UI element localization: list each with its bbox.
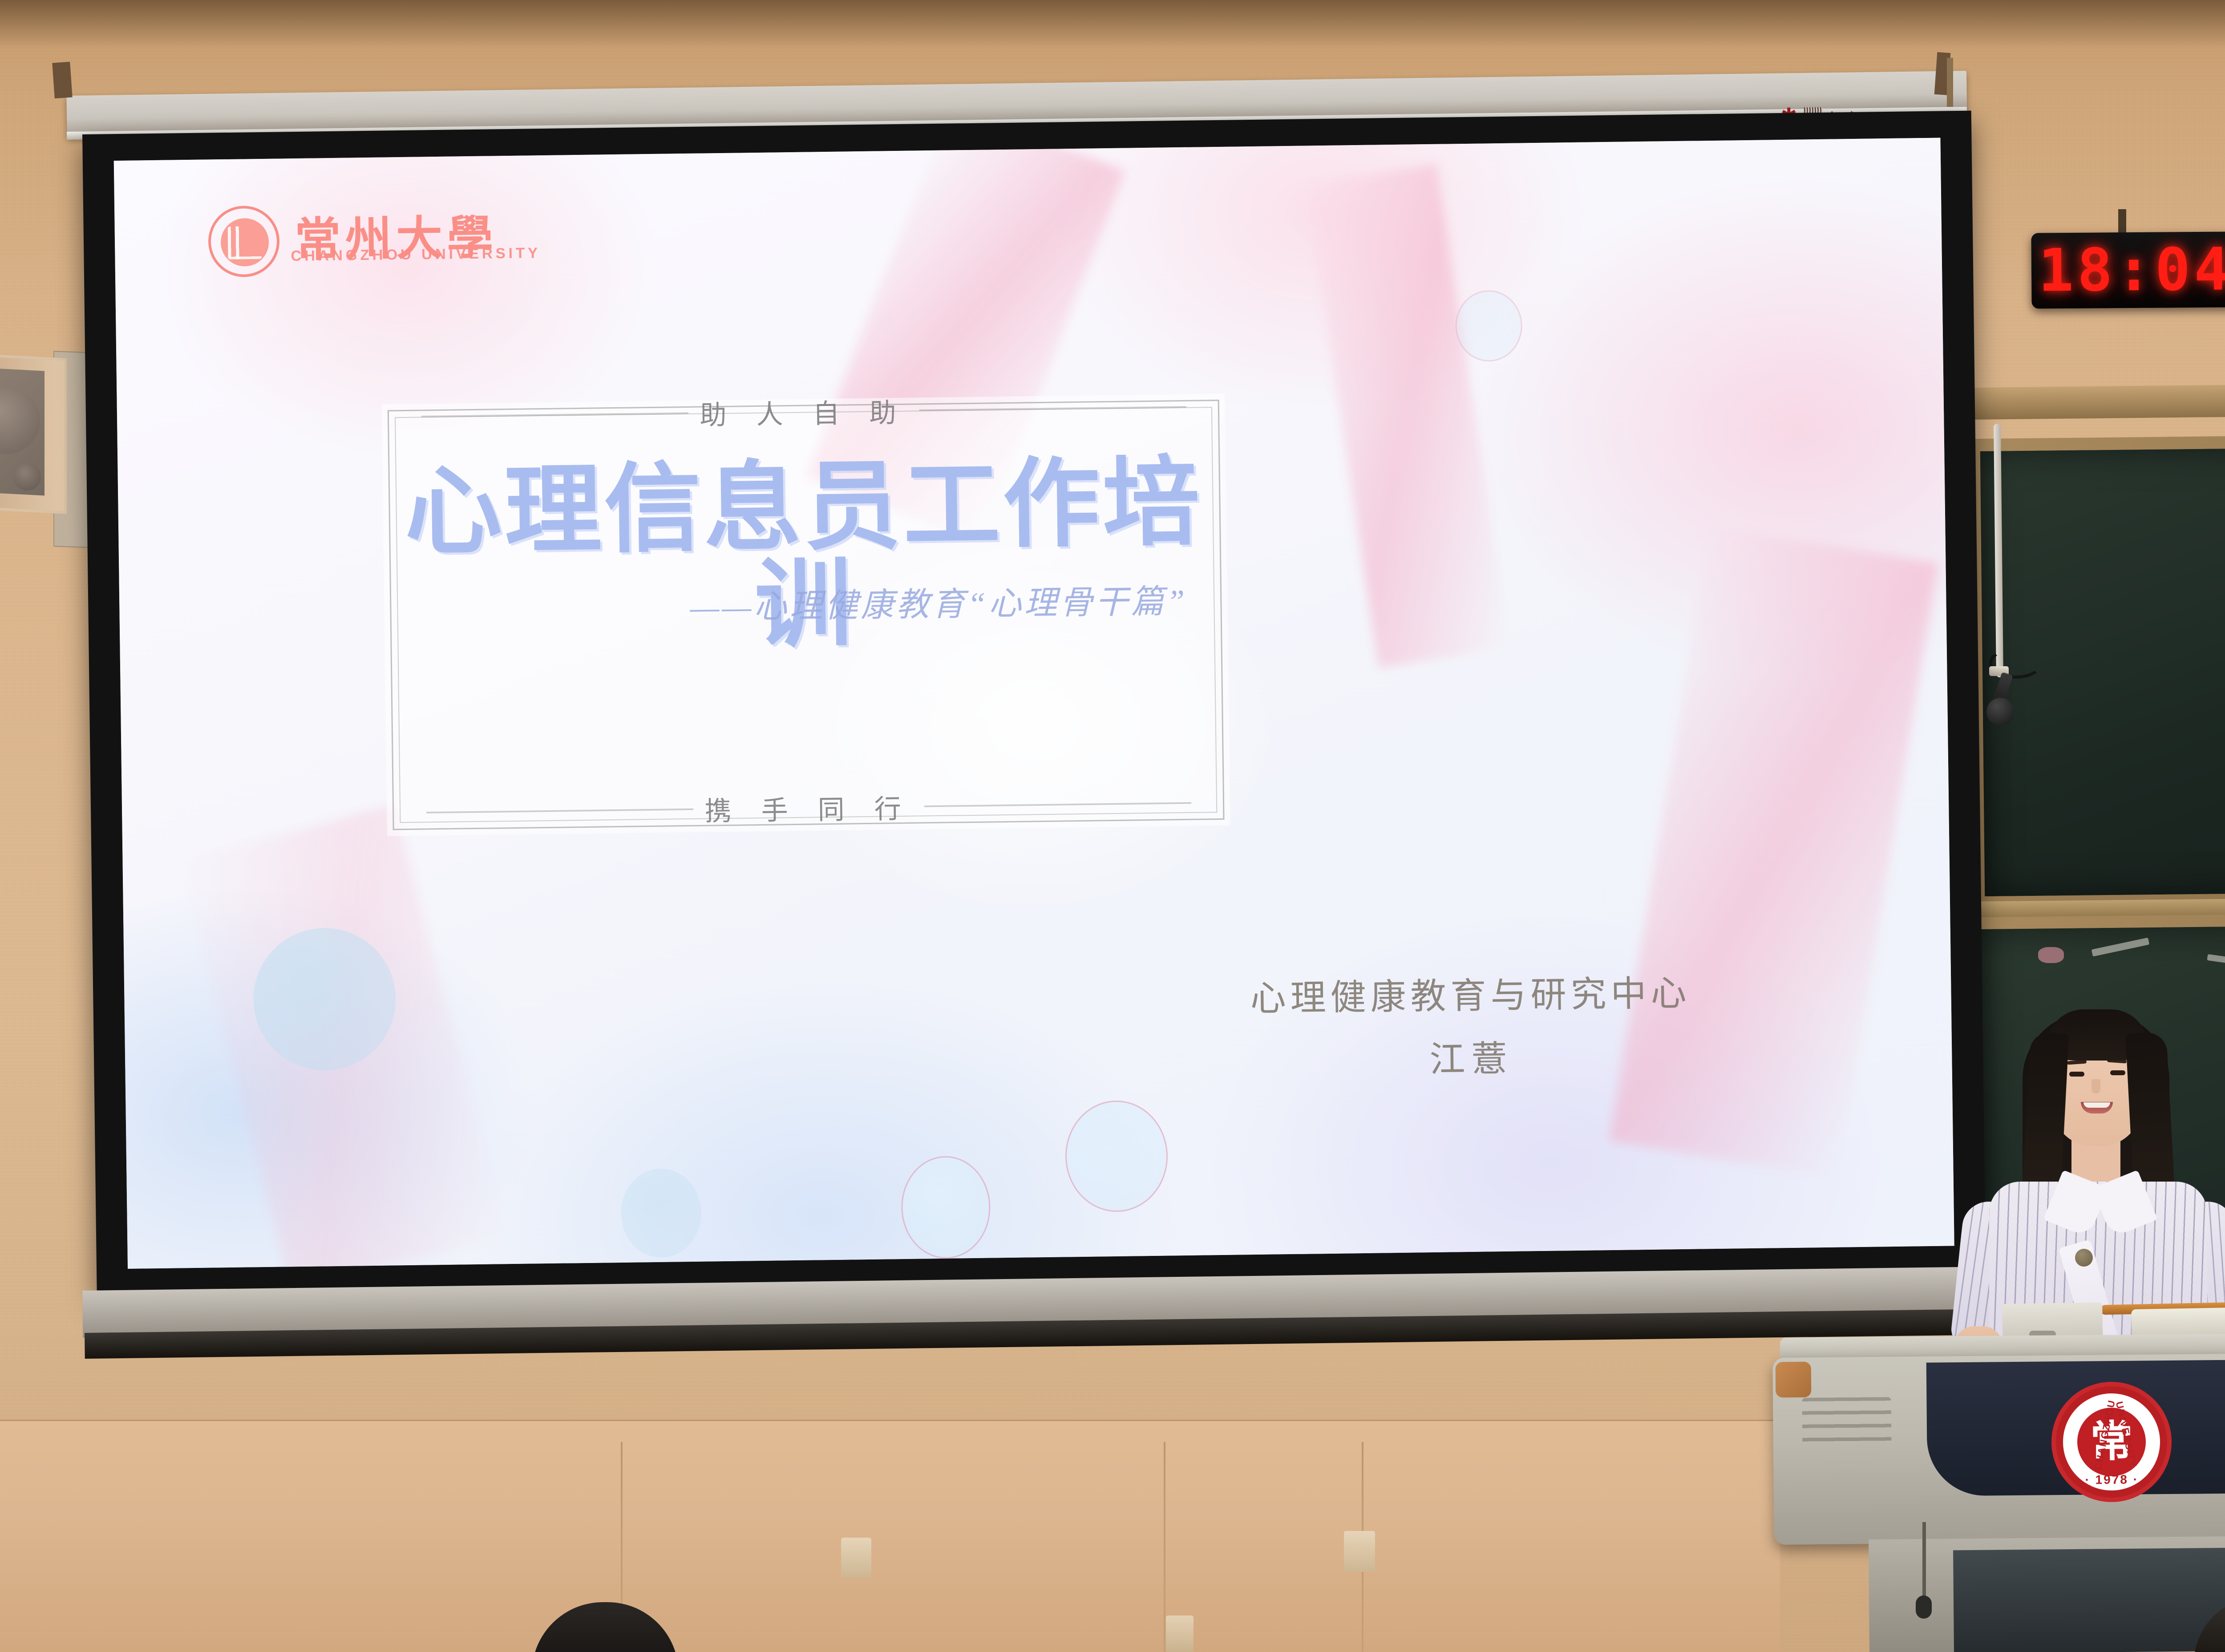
clock-time: 18:04 xyxy=(2038,235,2225,305)
wall-switch[interactable] xyxy=(1344,1531,1375,1572)
slide-university-logo: 常州大學 xyxy=(208,202,498,277)
screen-pull-rod[interactable] xyxy=(1947,58,1953,107)
podium-university-emblem: 常 CHANGZHOU UNIVERSITY · 1978 · xyxy=(2051,1381,2172,1502)
university-seal-icon xyxy=(208,205,280,277)
emblem-year: · 1978 · xyxy=(2056,1472,2168,1487)
podium-cable xyxy=(1922,1522,1926,1602)
presenter-eye-right xyxy=(2110,1070,2125,1075)
lower-wall-panel xyxy=(0,1420,1780,1652)
screen-mount-left xyxy=(52,62,72,99)
presenter-shirt-button xyxy=(2075,1249,2093,1267)
clock-bracket xyxy=(2118,209,2126,235)
speaker-tweeter-icon xyxy=(13,463,41,490)
microphone-icon xyxy=(1986,698,2014,725)
motto-rule-right xyxy=(919,406,1186,411)
slide-presenter-block: 心理健康教育与研究中心 江薏 xyxy=(1148,963,1794,1086)
motto-rule-left xyxy=(421,413,688,417)
wall-digital-clock: 18:04 xyxy=(2031,231,2225,308)
wall-seam xyxy=(1164,1442,1165,1652)
presenter-organization: 心理健康教育与研究中心 xyxy=(1148,963,1793,1023)
podium-lower-screen xyxy=(1953,1547,2225,1652)
wall-outlet xyxy=(1166,1616,1193,1652)
presenter-nose xyxy=(2091,1079,2100,1093)
presentation-slide[interactable]: 常州大學 CHANGZHOU UNIVERSITY 助 人 自 助 心理信息员工… xyxy=(114,138,1954,1269)
motto-top-text: 助 人 自 助 xyxy=(700,391,908,433)
projection-screen-frame: 常州大學 CHANGZHOU UNIVERSITY 助 人 自 助 心理信息员工… xyxy=(82,111,1986,1296)
wall-outlet xyxy=(841,1538,871,1578)
podium-corner-trim xyxy=(1776,1362,1812,1398)
university-name-en: CHANGZHOU UNIVERSITY xyxy=(291,244,541,264)
presenter-name: 江薏 xyxy=(1149,1026,1794,1086)
motto-rule-left xyxy=(426,809,693,814)
board-top-rail xyxy=(1967,382,2225,420)
presenter-teeth xyxy=(2083,1102,2110,1108)
presenter-eye-left xyxy=(2069,1072,2084,1077)
motto-bottom-text: 携 手 同 行 xyxy=(704,787,913,829)
podium-cable-tag xyxy=(1916,1595,1932,1619)
podium-vent-slots xyxy=(1802,1397,1892,1447)
classroom-scene: 18:04 ✱ 红叶 xyxy=(0,0,2225,1652)
chalk-mark-pink xyxy=(2038,947,2064,963)
motto-rule-right xyxy=(924,802,1191,807)
ceiling-shadow xyxy=(0,0,2225,49)
